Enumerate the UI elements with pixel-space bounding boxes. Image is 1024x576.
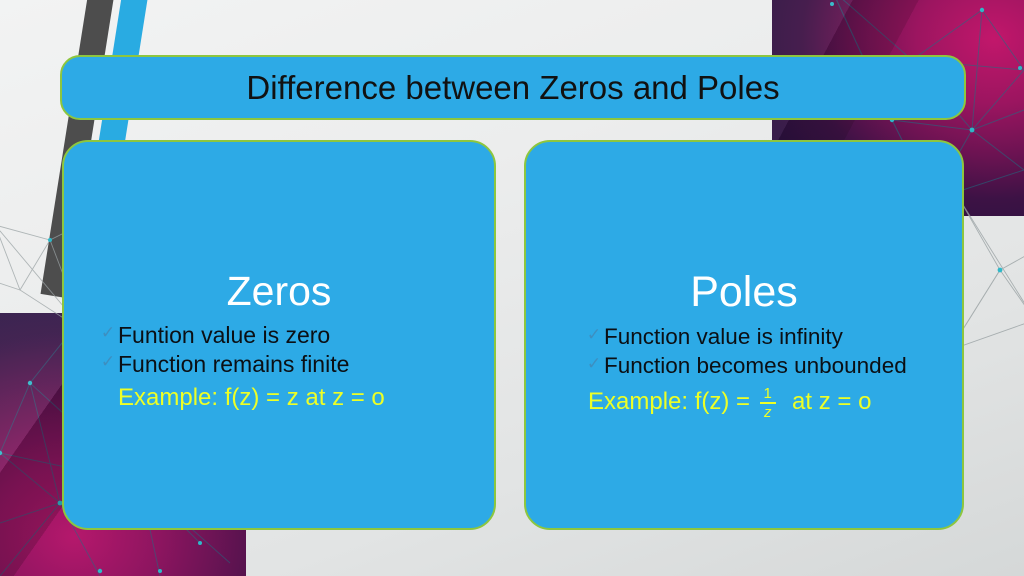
slide-canvas: Difference between Zeros and Poles Zeros… [0,0,1024,576]
fraction-denominator: z [762,405,774,420]
bullet-list-poles: ✓ Function value is infinity ✓ Function … [526,323,962,379]
fraction-numerator: 1 [762,386,774,401]
check-icon: ✓ [584,323,604,348]
bullet-text: Function becomes unbounded [604,352,962,379]
check-icon: ✓ [98,321,118,346]
column-heading-zeros: Zeros [64,270,494,313]
list-item: ✓ Function becomes unbounded [584,352,962,379]
bullet-list-zeros: ✓ Funtion value is zero ✓ Function remai… [64,321,494,378]
content-box-poles: Poles ✓ Function value is infinity ✓ Fun… [524,140,964,530]
example-line-poles: Example: f(z) = 1 z at z = o [526,385,962,419]
list-item: ✓ Function remains finite [98,350,494,378]
check-icon: ✓ [584,352,604,377]
example-suffix: at z = o [779,388,872,417]
check-icon: ✓ [98,350,118,375]
fraction-one-over-z: 1 z [760,386,776,420]
example-text: Example: f(z) = z at z = o [118,384,385,413]
bullet-text: Function remains finite [118,350,494,378]
list-item: ✓ Function value is infinity [584,323,962,350]
list-item: ✓ Funtion value is zero [98,321,494,349]
bullet-text: Function value is infinity [604,323,962,350]
example-prefix: Example: f(z) = [588,388,757,417]
example-line-zeros: Example: f(z) = z at z = o [64,384,494,413]
page-title: Difference between Zeros and Poles [246,69,779,107]
content-box-zeros: Zeros ✓ Funtion value is zero ✓ Function… [62,140,496,530]
bullet-text: Funtion value is zero [118,321,494,349]
slide-title-box: Difference between Zeros and Poles [60,55,966,120]
column-heading-poles: Poles [526,270,962,315]
